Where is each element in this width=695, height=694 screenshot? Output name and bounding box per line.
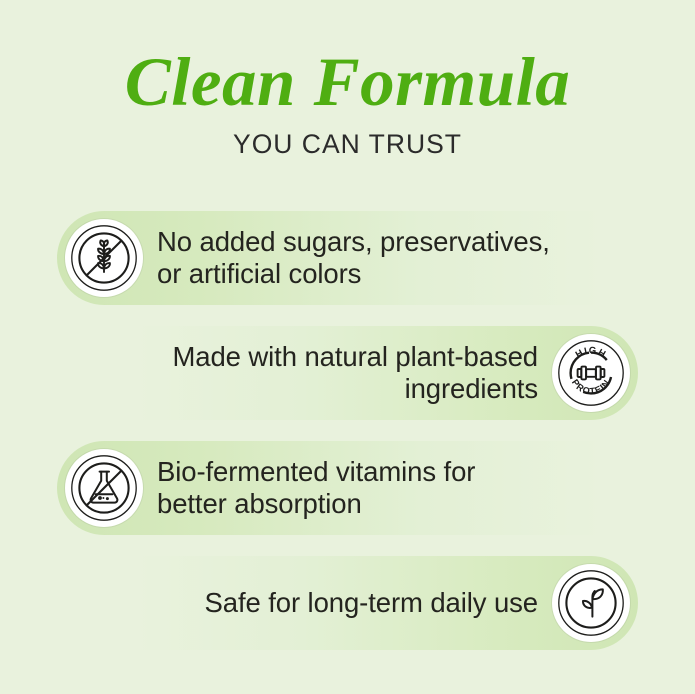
page-title: Clean Formula	[0, 0, 695, 117]
feature-text: No added sugars, preservatives, or artif…	[157, 226, 550, 291]
feature-text: Made with natural plant-based ingredient…	[172, 341, 538, 406]
clean-formula-poster: Clean Formula YOU CAN TRUST	[0, 0, 695, 694]
no-chemicals-flask-icon	[65, 449, 143, 527]
feature-text: Safe for long-term daily use	[205, 587, 538, 619]
no-grain-icon	[65, 219, 143, 297]
high-protein-badge-icon: HIGH PROTEIN	[552, 334, 630, 412]
feature-text-line: ingredients	[172, 373, 538, 405]
plant-sprout-icon	[552, 564, 630, 642]
feature-text-line: or artificial colors	[157, 258, 550, 290]
feature-row-safe-daily-use: Safe for long-term daily use	[0, 556, 638, 650]
feature-row-no-added-sugars: No added sugars, preservatives, or artif…	[57, 211, 695, 305]
feature-row-bio-fermented: Bio-fermented vitamins for better absorp…	[57, 441, 695, 535]
feature-text-line: Bio-fermented vitamins for	[157, 456, 475, 488]
page-subtitle: YOU CAN TRUST	[0, 117, 695, 160]
feature-text-line: Made with natural plant-based	[172, 341, 538, 373]
feature-text-line: No added sugars, preservatives,	[157, 226, 550, 258]
feature-text-line: better absorption	[157, 488, 475, 520]
poster-header: Clean Formula YOU CAN TRUST	[0, 0, 695, 160]
feature-text-line: Safe for long-term daily use	[205, 587, 538, 619]
feature-text: Bio-fermented vitamins for better absorp…	[157, 456, 475, 521]
feature-row-plant-based: HIGH PROTEIN Made with natural plant-bas…	[0, 326, 638, 420]
